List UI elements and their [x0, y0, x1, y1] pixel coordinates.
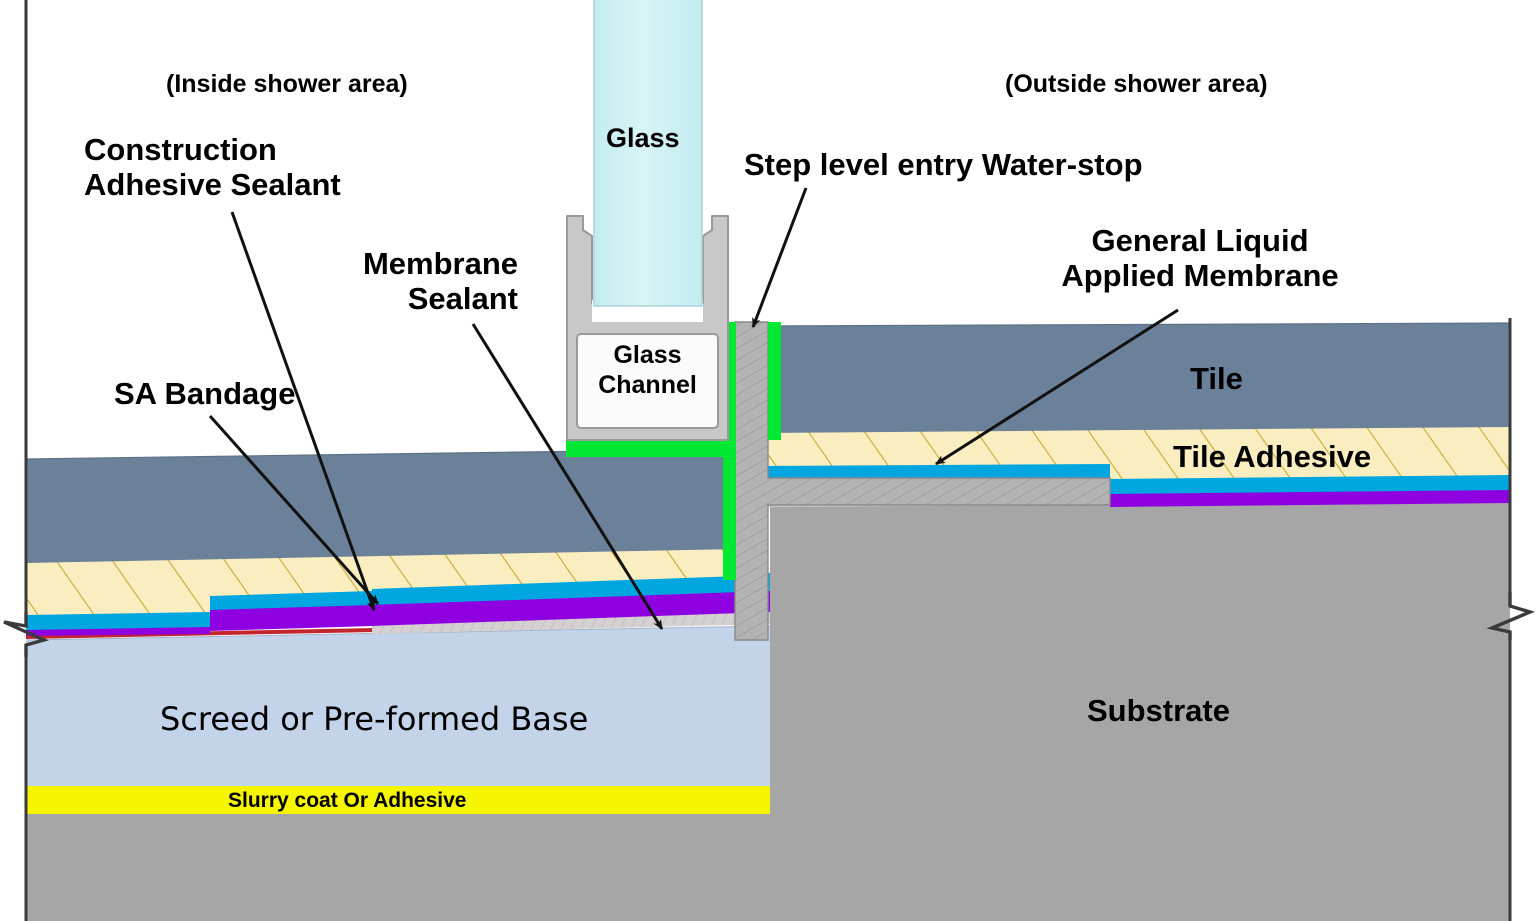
label-slurry-coat-or-adhesive: Slurry coat Or Adhesive [228, 789, 466, 813]
label-membrane-sealant: Membrane Sealant [256, 247, 518, 316]
diagram-canvas: (Inside shower area) (Outside shower are… [0, 0, 1536, 921]
label-tile: Tile [1190, 362, 1243, 397]
label-sa-bandage: SA Bandage [114, 377, 295, 412]
label-step-level-entry-water-stop: Step level entry Water-stop [744, 148, 1143, 183]
label-general-liquid-applied-membrane: General Liquid Applied Membrane [1020, 224, 1380, 293]
label-screed-or-preformed-base: Screed or Pre-formed Base [160, 702, 588, 738]
label-glass: Glass [606, 123, 680, 153]
label-inside-shower-area: (Inside shower area) [166, 70, 408, 98]
label-glass-channel: Glass Channel [577, 340, 718, 400]
arrow-step-level-entry-water-stop [753, 188, 806, 327]
outside-tile [762, 323, 1510, 433]
inside-tile [26, 449, 740, 563]
label-substrate: Substrate [1087, 694, 1230, 729]
label-tile-adhesive: Tile Adhesive [1173, 440, 1371, 475]
label-outside-shower-area: (Outside shower area) [1005, 70, 1268, 98]
label-construction-adhesive-sealant: Construction Adhesive Sealant [84, 133, 341, 202]
